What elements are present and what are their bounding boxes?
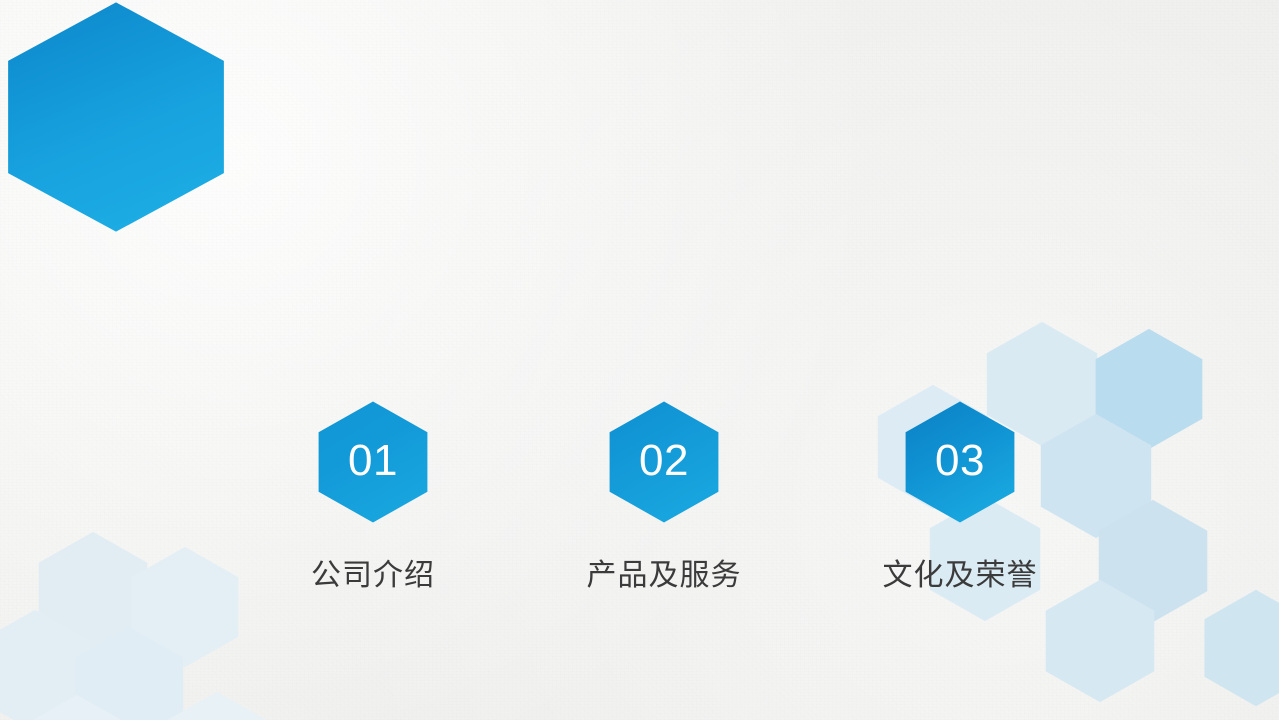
toc-item-03-number: 03: [902, 400, 1019, 524]
rule-left-icon: [545, 386, 581, 388]
toc-item-01-label: 公司介绍: [258, 550, 488, 594]
toc-item-03[interactable]: 03 文化及荣誉: [845, 400, 1075, 594]
toc-item-01-hexagon[interactable]: 01: [315, 400, 432, 524]
contents-title-en: CONTENTS: [588, 378, 692, 397]
toc-item-02[interactable]: 02 产品及服务: [549, 400, 779, 594]
toc-item-01-number: 01: [315, 400, 432, 524]
toc-item-01[interactable]: 01 公司介绍: [258, 400, 488, 594]
toc-item-03-hexagon[interactable]: 03: [902, 400, 1019, 524]
toc-item-03-label: 文化及荣誉: [845, 550, 1075, 594]
contents-hexagon[interactable]: 目录 CONTENTS: [0, 0, 232, 234]
presentation-slide: 目录 CONTENTS 01 公司介绍 02 产品及服务 03 文化及荣誉: [0, 0, 1279, 720]
decorative-hexagon: [1200, 588, 1279, 708]
rule-right-icon: [698, 386, 734, 388]
toc-item-02-label: 产品及服务: [549, 550, 779, 594]
toc-item-02-number: 02: [606, 400, 723, 524]
toc-item-02-hexagon[interactable]: 02: [606, 400, 723, 524]
